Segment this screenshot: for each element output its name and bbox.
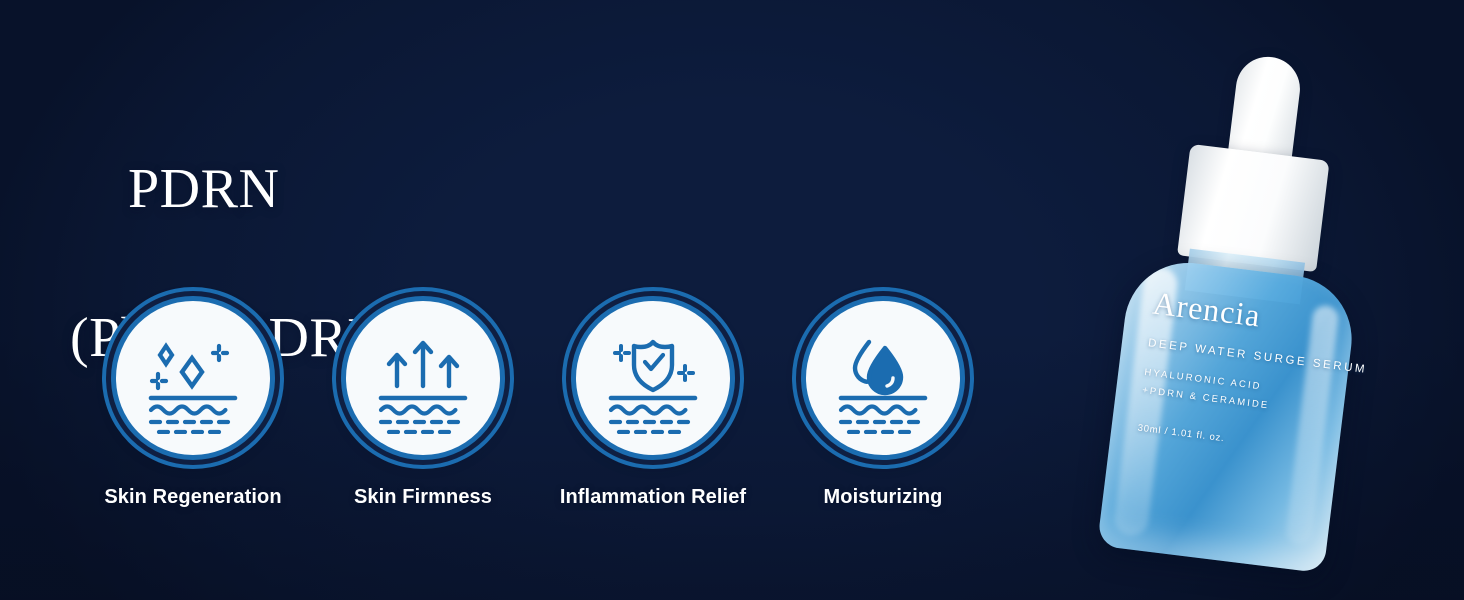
feature-label: Moisturizing (824, 486, 943, 509)
feature-label: Skin Firmness (354, 486, 492, 509)
product-banner: PDRN (Phyto PDRN) (0, 0, 1464, 600)
product-bottle: Arencia DEEP WATER SURGE SERUM HYALURONI… (1028, 13, 1421, 589)
feature-label: Inflammation Relief (560, 486, 746, 509)
feature-item-inflammation-relief[interactable]: Inflammation Relief (538, 296, 768, 509)
badge-moisturizing (801, 296, 965, 460)
badge-skin-firmness (341, 296, 505, 460)
bottle-body (1097, 256, 1359, 574)
sparkle-skin-layers-icon (137, 322, 249, 434)
water-droplets-skin-layers-icon (827, 322, 939, 434)
headline-line-1: PDRN (128, 158, 279, 220)
feature-item-skin-firmness[interactable]: Skin Firmness (308, 296, 538, 509)
feature-label: Skin Regeneration (104, 486, 281, 509)
shield-check-skin-layers-icon (597, 322, 709, 434)
feature-list: Skin Regeneration (78, 296, 998, 509)
feature-item-skin-regeneration[interactable]: Skin Regeneration (78, 296, 308, 509)
badge-skin-regeneration (111, 296, 275, 460)
feature-item-moisturizing[interactable]: Moisturizing (768, 296, 998, 509)
badge-inflammation-relief (571, 296, 735, 460)
up-arrows-skin-layers-icon (367, 322, 479, 434)
